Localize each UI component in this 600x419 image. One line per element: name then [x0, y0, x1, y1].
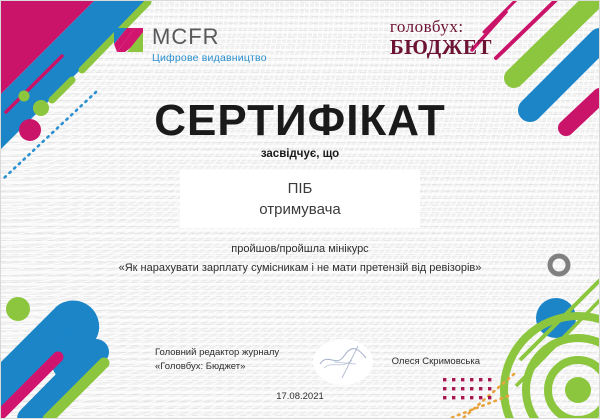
recipient-name-line-2: отримувача: [259, 201, 341, 218]
publisher-name: MCFR: [152, 26, 267, 48]
publisher-logo: MCFR Цифрове видавництво: [114, 26, 267, 64]
mcfr-m-logo-icon: [114, 26, 144, 54]
magazine-brand: головбух: БЮДЖЕТ: [390, 18, 492, 59]
handwritten-signature-icon: [312, 338, 374, 386]
publisher-tagline: Цифрове видавництво: [152, 53, 267, 64]
certificate-subtitle: засвідчує, що: [0, 148, 600, 160]
signer-role-line-1: Головний редактор журналу: [155, 346, 279, 360]
certificate-content: MCFR Цифрове видавництво головбух: БЮДЖЕ…: [0, 0, 600, 419]
course-description: пройшов/пройшла мінікурс «Як нарахувати …: [110, 241, 490, 277]
signer-role-line-2: «Головбух: Бюджет»: [155, 360, 279, 374]
certificate-title: СЕРТИФІКАТ: [0, 96, 600, 146]
brand-line-1: головбух:: [390, 18, 492, 35]
course-name-text: «Як нарахувати зарплату сумісникам і не …: [110, 260, 490, 277]
signer-name: Олеся Скримовська: [392, 356, 480, 367]
issue-date: 17.08.2021: [0, 391, 600, 402]
course-intro-text: пройшов/пройшла мінікурс: [231, 243, 368, 255]
certificate-canvas: MCFR Цифрове видавництво головбух: БЮДЖЕ…: [0, 0, 600, 419]
brand-line-2: БЮДЖЕТ: [390, 36, 492, 59]
recipient-name-box: ПІБ отримувача: [180, 170, 420, 228]
signer-role: Головний редактор журналу «Головбух: Бюд…: [155, 346, 279, 375]
recipient-name-line-1: ПІБ: [288, 180, 313, 197]
